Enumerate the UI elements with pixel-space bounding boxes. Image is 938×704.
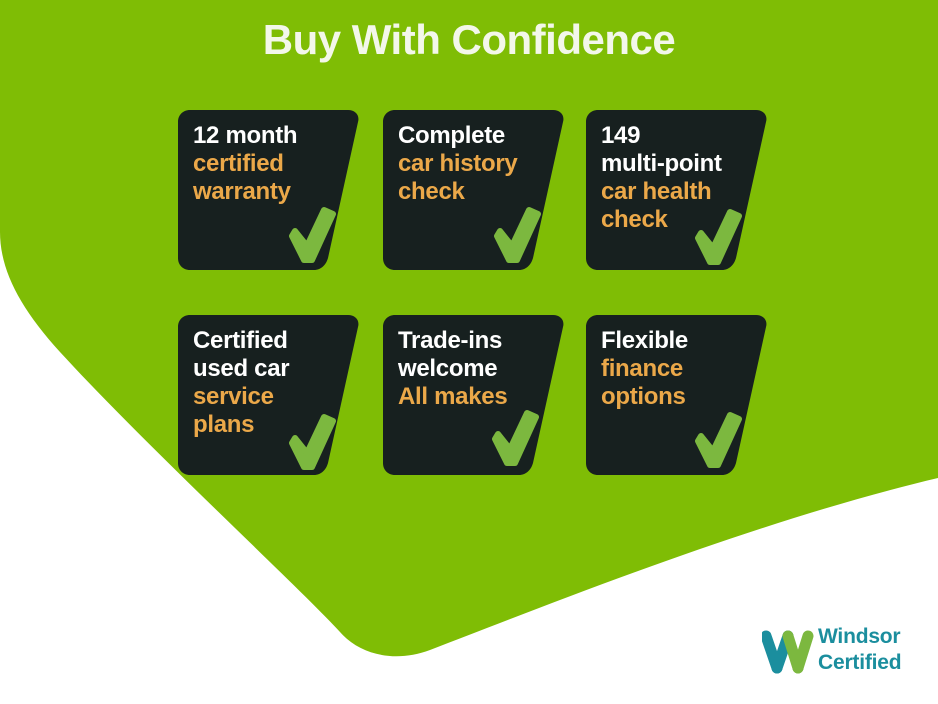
logo-line-1: Windsor bbox=[818, 624, 901, 650]
card-line-amber: finance bbox=[601, 355, 754, 383]
card-text-block: Flexible finance options bbox=[601, 327, 754, 411]
benefit-card[interactable]: Trade-ins welcome All makes bbox=[383, 315, 565, 475]
card-line-white: Trade-ins bbox=[398, 327, 551, 355]
benefit-card[interactable]: Certified used car service plans bbox=[178, 315, 360, 475]
windsor-w-logo-icon bbox=[762, 626, 814, 678]
logo-line-2: Certified bbox=[818, 650, 901, 676]
card-line-amber: service bbox=[193, 383, 346, 411]
card-line-white: 149 bbox=[601, 122, 754, 150]
card-text-block: 12 month certified warranty bbox=[193, 122, 346, 206]
check-mark-icon bbox=[493, 206, 541, 264]
page-title: Buy With Confidence bbox=[0, 18, 938, 62]
card-line-amber: warranty bbox=[193, 178, 346, 206]
card-line-amber: check bbox=[398, 178, 551, 206]
card-line-white: Flexible bbox=[601, 327, 754, 355]
card-line-white: used car bbox=[193, 355, 346, 383]
card-text-block: Trade-ins welcome All makes bbox=[398, 327, 551, 411]
benefit-card[interactable]: 12 month certified warranty bbox=[178, 110, 360, 270]
promo-graphic: Buy With Confidence 12 month certified w… bbox=[0, 0, 938, 704]
card-line-white: welcome bbox=[398, 355, 551, 383]
card-line-white: 12 month bbox=[193, 122, 346, 150]
windsor-certified-logo[interactable]: Windsor Certified bbox=[762, 624, 924, 682]
check-mark-icon bbox=[694, 411, 742, 469]
card-line-amber: options bbox=[601, 383, 754, 411]
benefit-card[interactable]: Flexible finance options bbox=[586, 315, 768, 475]
card-line-white: multi-point bbox=[601, 150, 754, 178]
card-line-white: Complete bbox=[398, 122, 551, 150]
card-line-amber: car history bbox=[398, 150, 551, 178]
card-line-amber: certified bbox=[193, 150, 346, 178]
benefits-card-grid: 12 month certified warranty Complete car… bbox=[178, 110, 768, 475]
card-line-amber: car health bbox=[601, 178, 754, 206]
card-line-white: Certified bbox=[193, 327, 346, 355]
logo-wordmark: Windsor Certified bbox=[818, 624, 901, 675]
check-mark-icon bbox=[288, 206, 336, 264]
check-mark-icon bbox=[694, 208, 742, 266]
card-line-amber: All makes bbox=[398, 383, 551, 411]
check-mark-icon bbox=[491, 409, 539, 467]
card-text-block: Complete car history check bbox=[398, 122, 551, 206]
benefit-card[interactable]: 149 multi-point car health check bbox=[586, 110, 768, 270]
benefit-card[interactable]: Complete car history check bbox=[383, 110, 565, 270]
check-mark-icon bbox=[288, 413, 336, 471]
